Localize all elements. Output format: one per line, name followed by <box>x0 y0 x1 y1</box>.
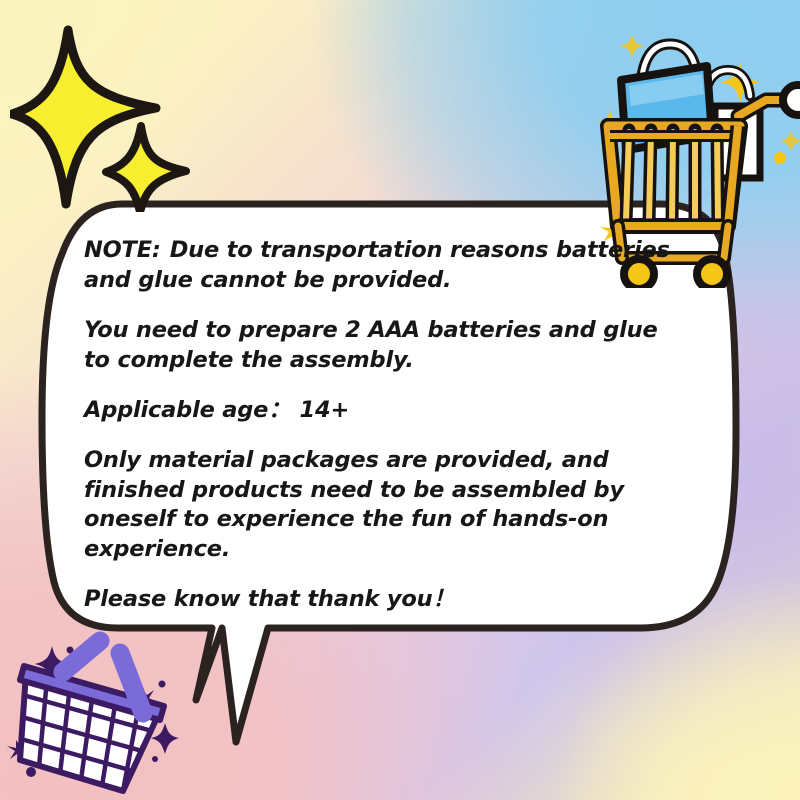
note-label: NOTE: <box>84 237 161 263</box>
applicable-age-label: Applicable age： <box>84 397 291 423</box>
notice-paragraph-batteries: You need to prepare 2 AAA batteries and … <box>84 316 690 376</box>
notice-paragraph-thanks: Please know that thank you！ <box>84 585 690 615</box>
notice-paragraph-age: Applicable age：14+ <box>84 396 690 426</box>
notice-card-canvas: NOTE:Due to transportation reasons batte… <box>0 0 800 800</box>
notice-lead-paragraph: NOTE:Due to transportation reasons batte… <box>84 236 690 296</box>
notice-text-block: NOTE:Due to transportation reasons batte… <box>84 236 690 615</box>
notice-paragraph-assembly: Only material packages are provided, and… <box>84 446 690 566</box>
note-lead-line1: Due to transportation reasons <box>170 237 549 263</box>
applicable-age-value: 14+ <box>300 397 350 423</box>
